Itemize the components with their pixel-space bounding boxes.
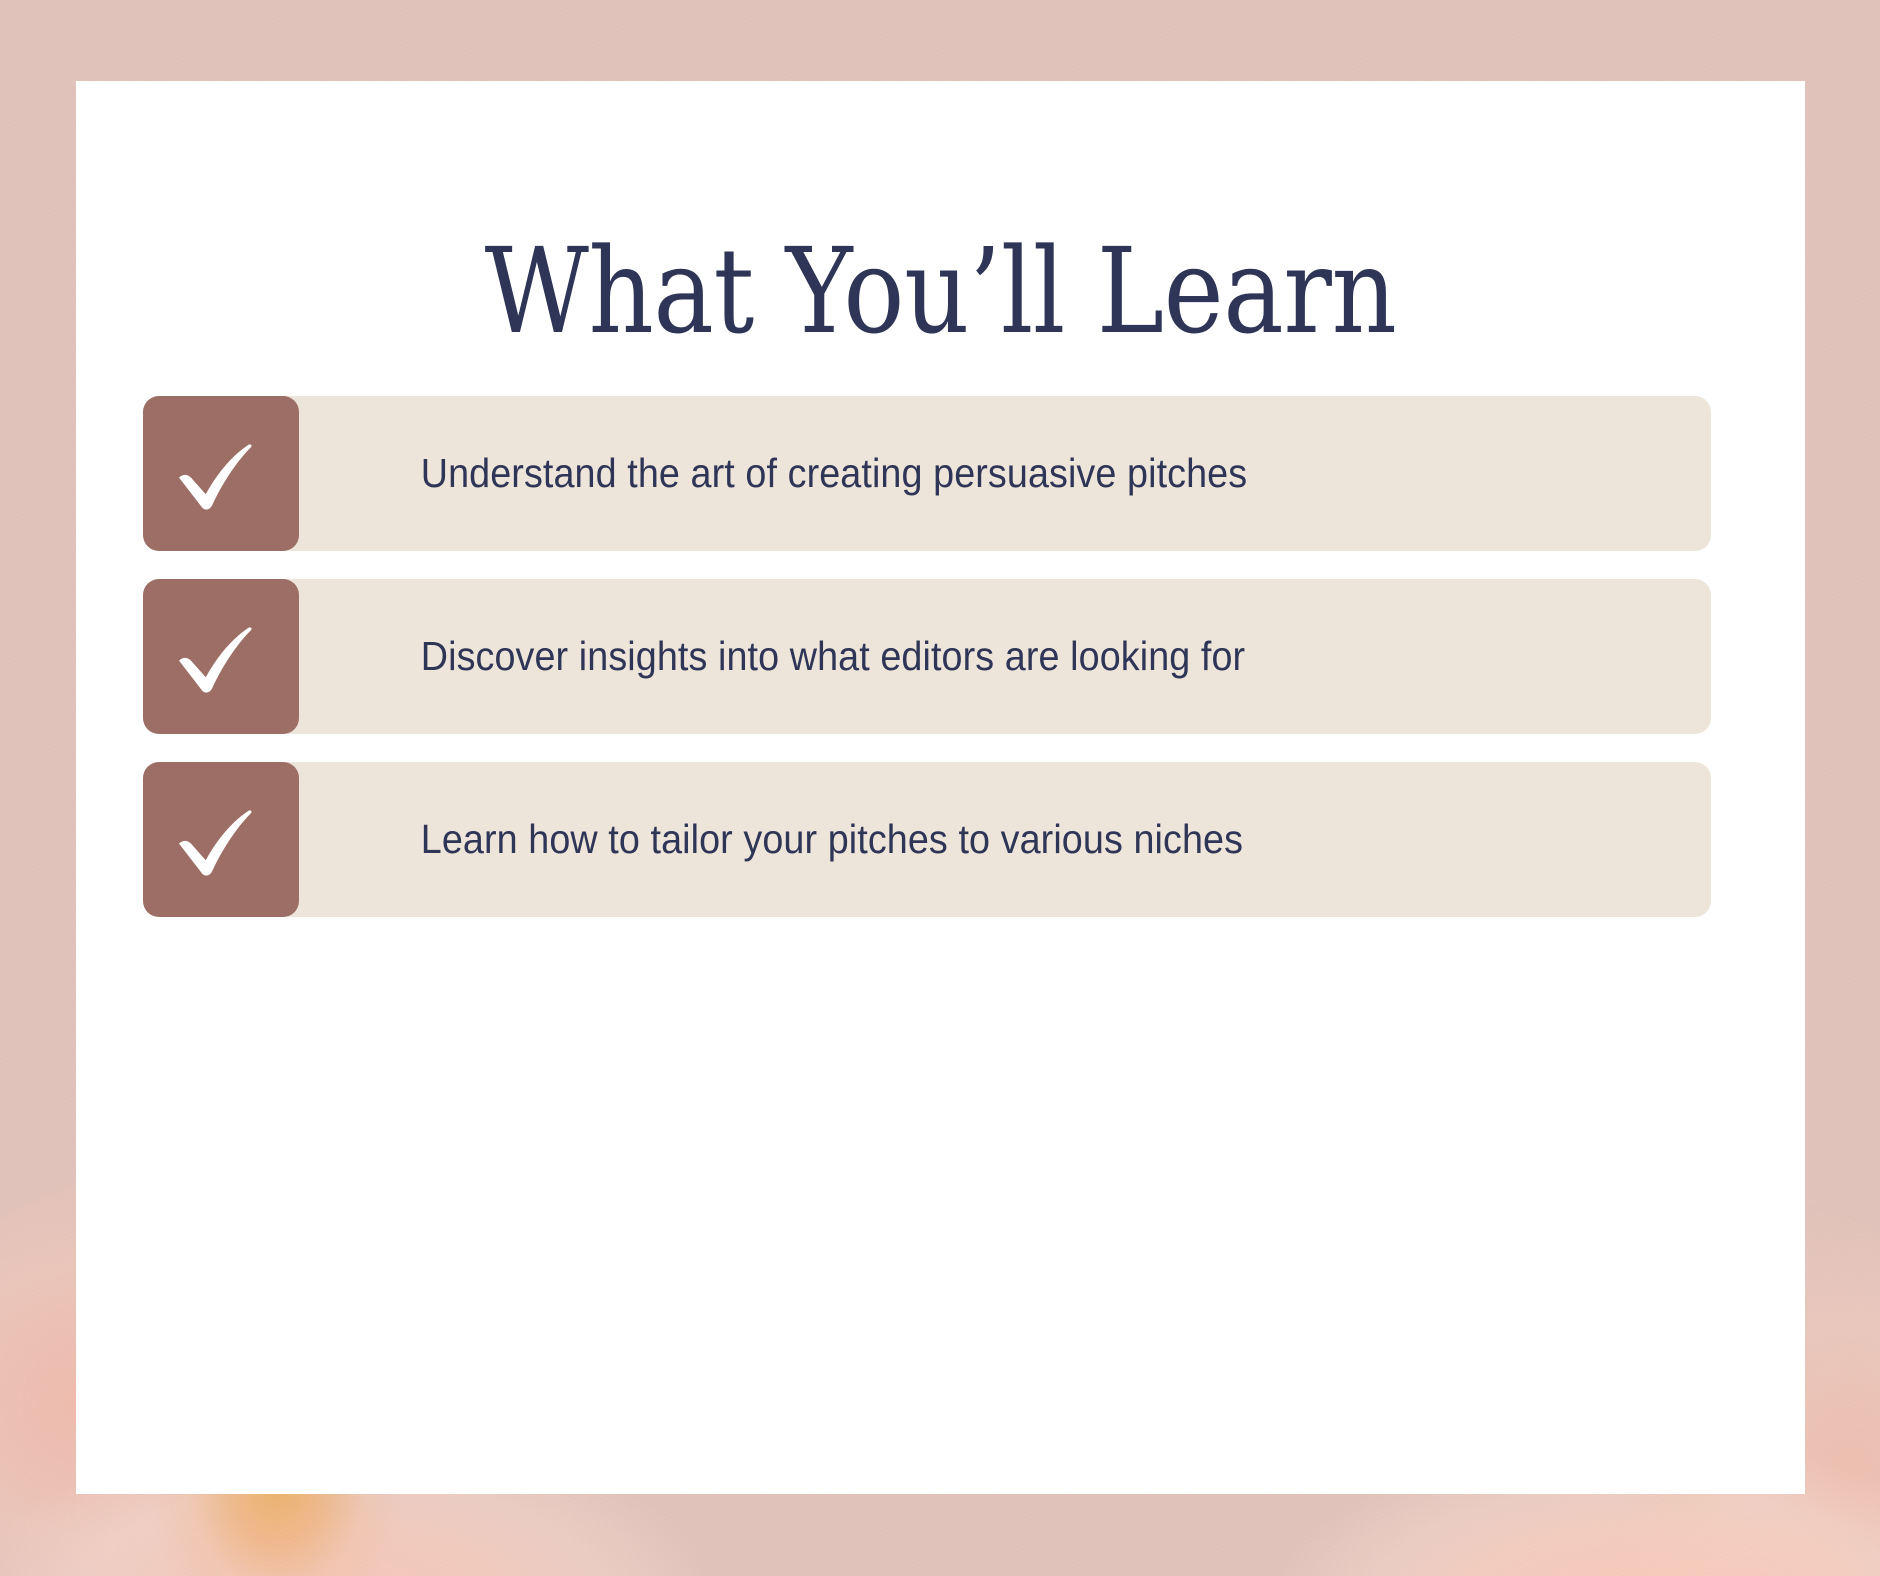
- content-card: What You’ll Learn Understand the art of …: [76, 81, 1805, 1494]
- list-item-label: Understand the art of creating persuasiv…: [257, 450, 1247, 497]
- list-item[interactable]: Learn how to tailor your pitches to vari…: [143, 762, 1711, 917]
- list-item-label: Learn how to tailor your pitches to vari…: [257, 816, 1243, 863]
- checkmark-icon: [168, 428, 260, 520]
- checkmark-icon: [168, 611, 260, 703]
- list-item[interactable]: Discover insights into what editors are …: [143, 579, 1711, 734]
- checkbox-3[interactable]: [143, 762, 273, 917]
- list-item-bar: Discover insights into what editors are …: [257, 579, 1711, 734]
- list-item[interactable]: Understand the art of creating persuasiv…: [143, 396, 1711, 551]
- checkmark-icon: [168, 794, 260, 886]
- list-item-label: Discover insights into what editors are …: [257, 633, 1245, 680]
- list-item-bar: Understand the art of creating persuasiv…: [257, 396, 1711, 551]
- checklist: Understand the art of creating persuasiv…: [143, 396, 1711, 917]
- slide-canvas: What You’ll Learn Understand the art of …: [0, 0, 1880, 1576]
- list-item-bar: Learn how to tailor your pitches to vari…: [257, 762, 1711, 917]
- checkbox-2[interactable]: [143, 579, 273, 734]
- checkbox-1[interactable]: [143, 396, 273, 551]
- page-title: What You’ll Learn: [197, 232, 1684, 350]
